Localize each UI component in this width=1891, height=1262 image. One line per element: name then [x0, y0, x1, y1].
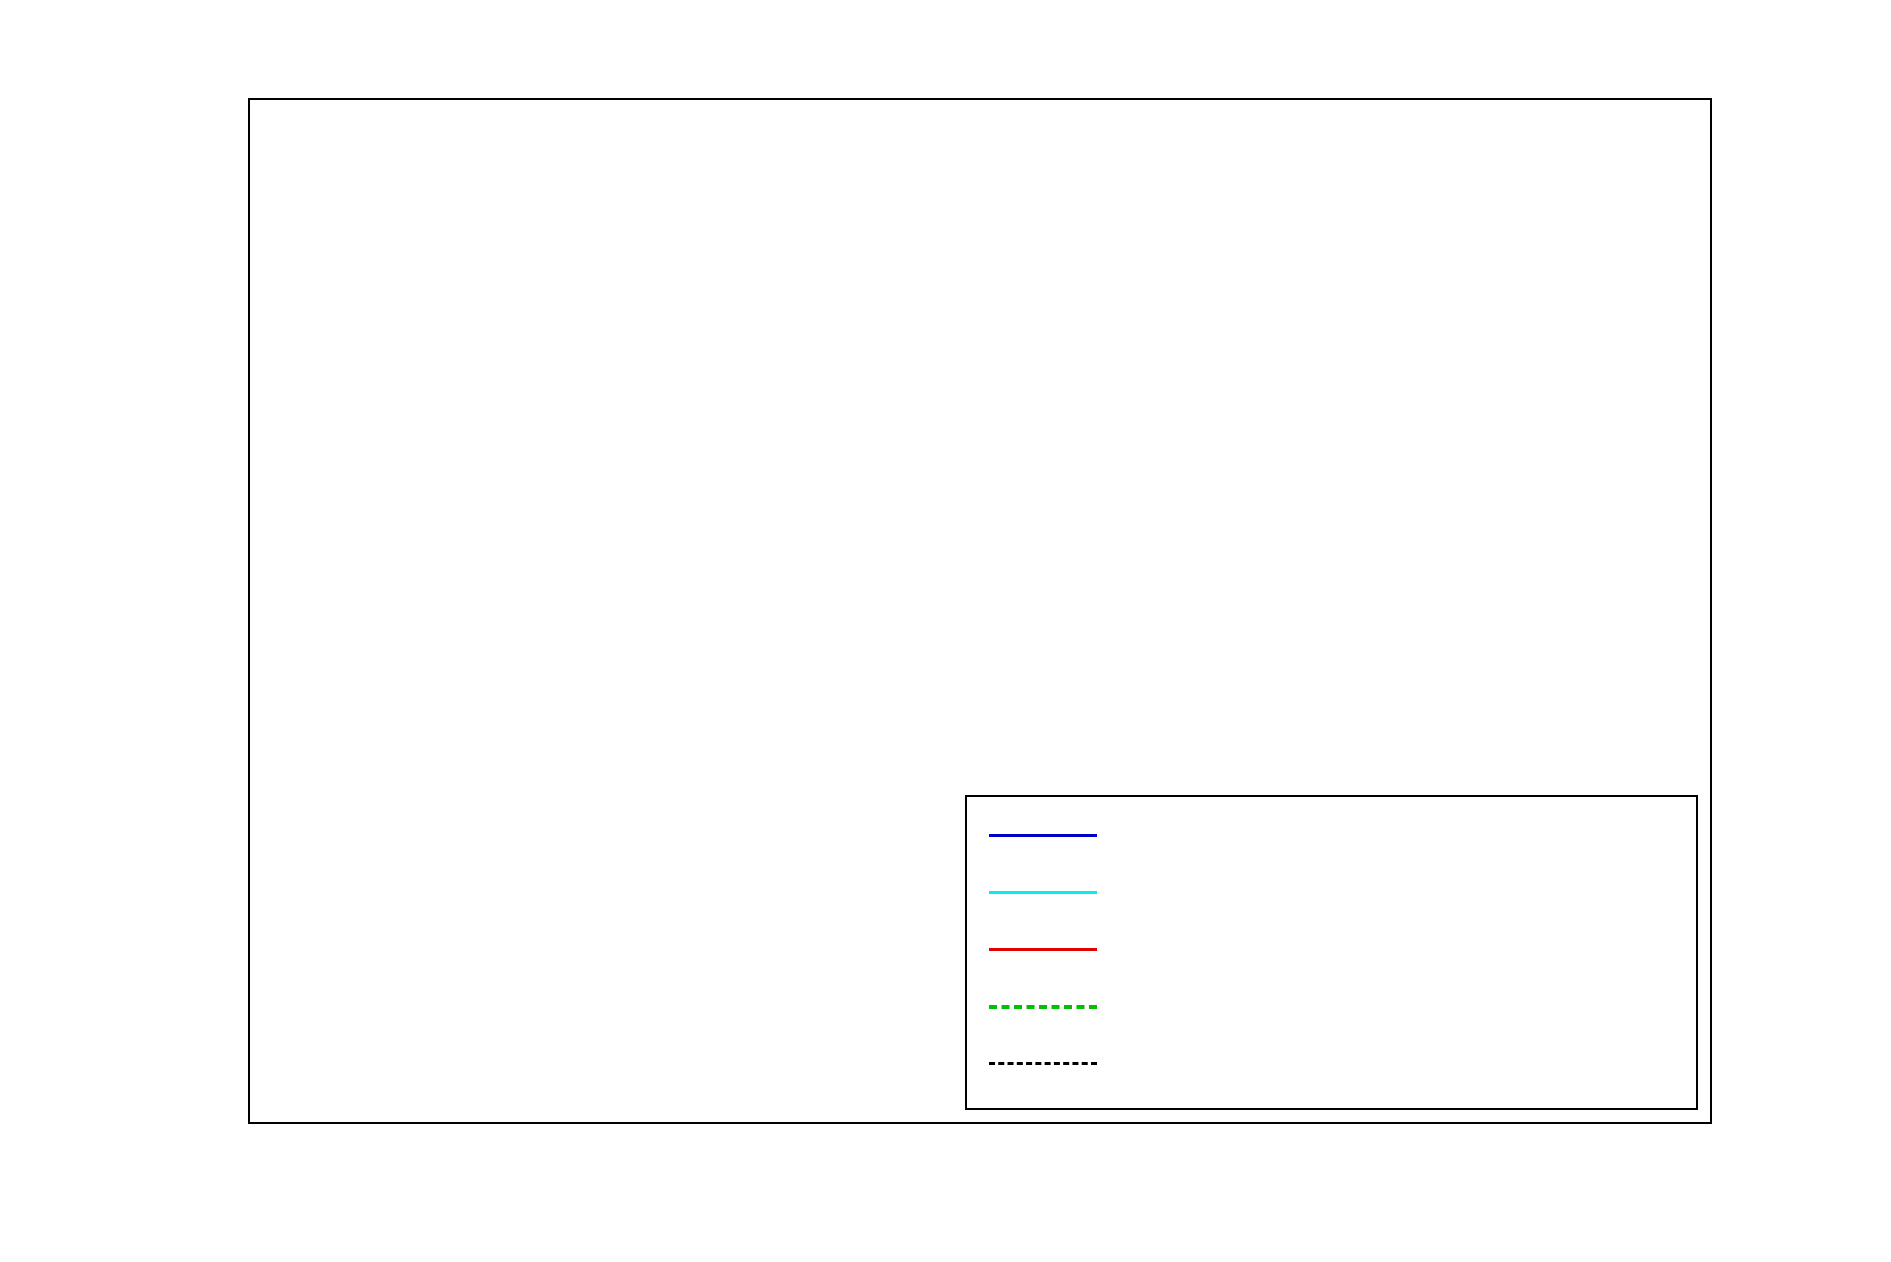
legend-swatch-green-dashed-line	[989, 1005, 1097, 1009]
legend-swatch-red-line	[989, 948, 1097, 951]
legend-swatch-black-dashed-line	[989, 1062, 1097, 1065]
legend-item-upwelling-descent[interactable]	[967, 921, 1696, 978]
legend-box	[965, 795, 1698, 1110]
legend-item-pressure-change[interactable]	[967, 807, 1696, 864]
legend-item-upwelling-ascent[interactable]	[967, 978, 1696, 1035]
legend-item-biased-model[interactable]	[967, 1035, 1696, 1092]
legend-item-buoyancy-pitch[interactable]	[967, 864, 1696, 921]
legend-swatch-cyan-line	[989, 891, 1097, 894]
legend-swatch-blue-line	[989, 834, 1097, 837]
